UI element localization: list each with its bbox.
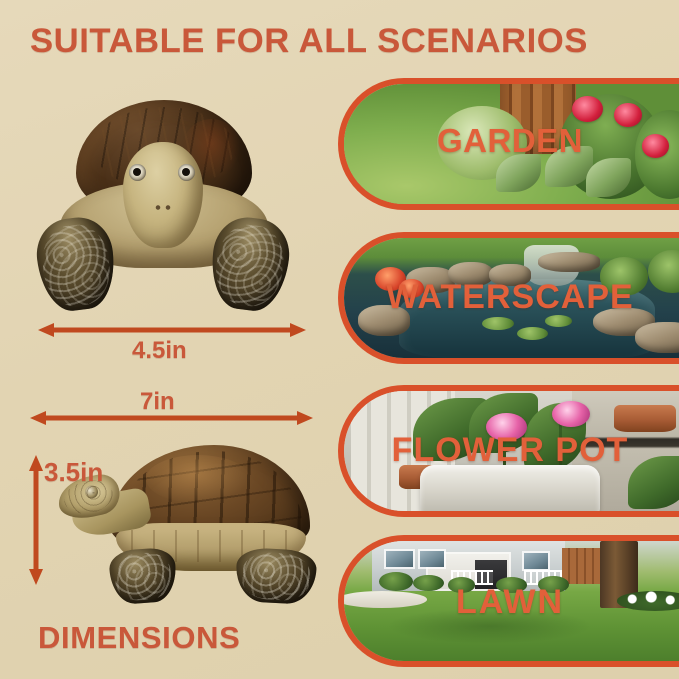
infographic-canvas: SUITABLE FOR ALL SCENARIOS DIMENSIONS 4.… xyxy=(0,0,679,679)
page-title: SUITABLE FOR ALL SCENARIOS xyxy=(30,22,588,61)
height-arrow-vertical xyxy=(28,455,44,585)
terracotta-pot xyxy=(614,405,676,431)
tortoise-leg-front xyxy=(108,547,178,605)
rock xyxy=(538,252,600,271)
dimension-label-width: 4.5in xyxy=(132,337,187,365)
lily-pad xyxy=(517,327,548,340)
tortoise-nostrils xyxy=(153,204,173,211)
tortoise-eye-left xyxy=(129,164,146,181)
tortoise-leg-rear xyxy=(235,547,318,605)
white-planter xyxy=(420,465,600,517)
scenario-label-garden: GARDEN xyxy=(344,122,676,160)
tortoise-front-view-image xyxy=(38,100,288,315)
scenario-card-lawn[interactable]: LAWN xyxy=(338,535,679,667)
tortoise-head xyxy=(123,142,203,248)
house-window xyxy=(386,551,414,568)
scenario-label-waterscape: WATERSCAPE xyxy=(344,278,676,317)
scenario-card-flowerpot[interactable]: FLOWER POT xyxy=(338,385,679,517)
scenario-label-flowerpot: FLOWER POT xyxy=(344,431,676,470)
dimensions-heading: DIMENSIONS xyxy=(38,620,240,656)
scenario-label-lawn: LAWN xyxy=(344,583,676,622)
house-window xyxy=(524,553,548,569)
pink-flower xyxy=(552,401,590,427)
wooden-fence xyxy=(562,548,604,584)
scenario-card-garden[interactable]: GARDEN xyxy=(338,78,679,210)
dimension-label-height: 3.5in xyxy=(44,457,103,488)
dimension-label-length: 7in xyxy=(140,388,175,416)
house-window xyxy=(420,551,444,568)
width-arrow-horizontal xyxy=(38,322,306,338)
scenario-card-waterscape[interactable]: WATERSCAPE xyxy=(338,232,679,364)
tortoise-eye-right xyxy=(178,164,195,181)
